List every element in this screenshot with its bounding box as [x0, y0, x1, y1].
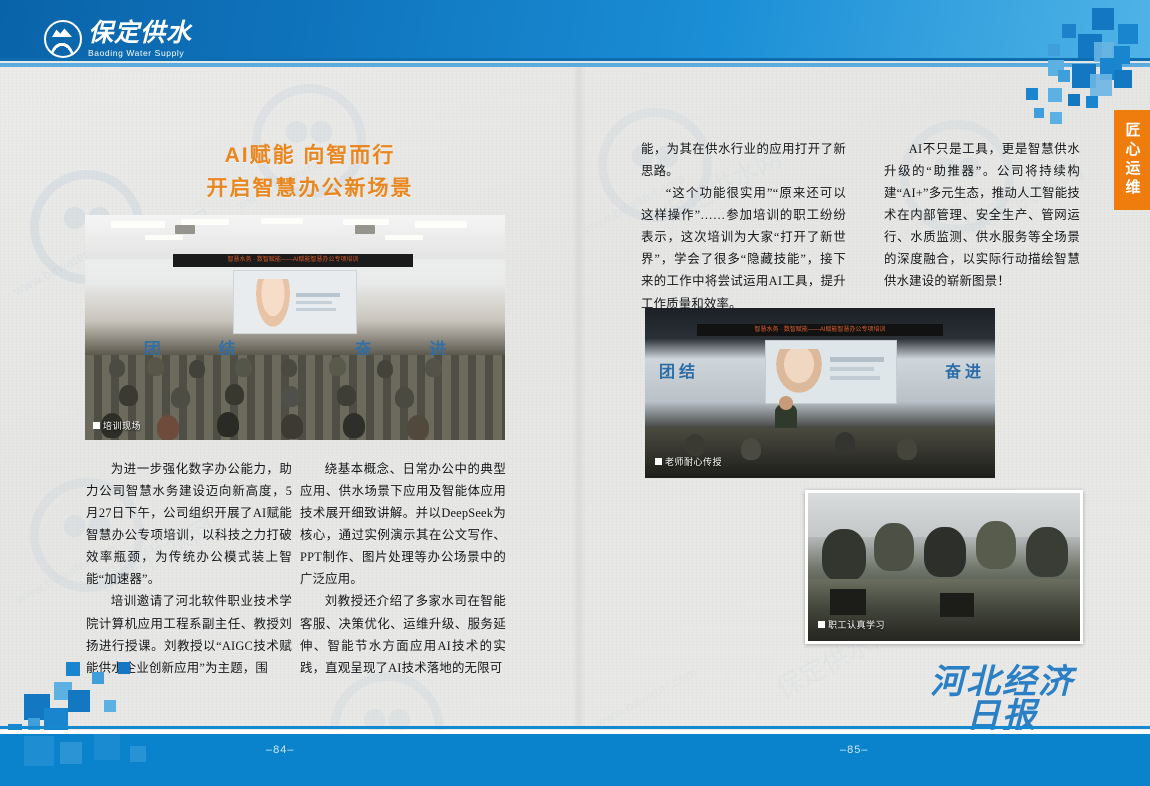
paragraph: 能，为其在供水行业的应用打开了新思路。 — [641, 138, 846, 182]
magazine-spread: www.bdwater.com 保定供水网 www.bdwater.com ww… — [0, 0, 1150, 786]
body-column-1: 为进一步强化数字办公能力，助力公司智慧水务建设迈向新高度，5月27日下午，公司组… — [86, 458, 292, 679]
slide-figure — [256, 279, 290, 327]
photo-lecturer: 智慧水务 · 数智赋能——AI赋能智慧办公专项培训 团 结 奋 进 老师耐心传授 — [645, 308, 995, 478]
photo-caption: 培训现场 — [93, 419, 141, 432]
water-drop-wave-icon — [44, 20, 82, 58]
slogan-char: 团 结 — [659, 358, 695, 382]
section-tab-label: 匠心运维 — [1122, 122, 1143, 198]
photo-banner-text: 智慧水务 · 数智赋能——AI赋能智慧办公专项培训 — [697, 324, 943, 336]
paragraph: 为进一步强化数字办公能力，助力公司智慧水务建设迈向新高度，5月27日下午，公司组… — [86, 458, 292, 590]
caption-marker-icon — [93, 422, 100, 429]
photo-caption: 老师耐心传授 — [655, 455, 722, 468]
photo-banner-text: 智慧水务 · 数智赋能——AI赋能智慧办公专项培训 — [173, 254, 413, 267]
section-tab-craftsmanship[interactable]: 匠心运维 — [1114, 110, 1150, 210]
watermark-url: www.bdwater.com — [593, 665, 699, 731]
photo-caption-text: 老师耐心传授 — [665, 455, 722, 468]
projection-screen — [233, 270, 357, 334]
paragraph: AI不只是工具，更是智慧供水升级的“助推器”。公司将持续构建“AI+”多元生态，… — [884, 138, 1080, 293]
paragraph: 绕基本概念、日常办公中的典型应用、供水场景下应用及智能体应用技术展开细致讲解。并… — [300, 458, 506, 590]
brand-name-cn: 保定供水 — [88, 21, 192, 46]
footer-divider-2 — [0, 726, 1150, 729]
header-divider-2 — [0, 63, 1150, 67]
page-number-right: –85– — [840, 744, 868, 756]
brand-name-en: Baoding Water Supply — [88, 49, 192, 58]
slogan-char: 奋 进 — [945, 358, 981, 382]
photo-caption: 职工认真学习 — [818, 618, 885, 631]
photo-attendees: 职工认真学习 — [805, 490, 1083, 644]
paragraph: 培训邀请了河北软件职业技术学院计算机应用工程系副主任、教授刘扬进行授课。刘教授以… — [86, 590, 292, 678]
paragraph: 刘教授还介绍了多家水司在智能客服、决策优化、运维升级、服务延伸、智能节水方面应用… — [300, 590, 506, 678]
caption-marker-icon — [818, 621, 825, 628]
body-column-2: 绕基本概念、日常办公中的典型应用、供水场景下应用及智能体应用技术展开细致讲解。并… — [300, 458, 506, 679]
page-spine-shadow — [572, 67, 586, 727]
ceiling — [85, 215, 505, 259]
audience-seating — [85, 355, 505, 440]
footer-bar — [0, 734, 1150, 786]
body-column-4: AI不只是工具，更是智慧供水升级的“助推器”。公司将持续构建“AI+”多元生态，… — [884, 138, 1080, 293]
headline-line-2: 开启智慧办公新场景 — [110, 173, 510, 206]
headline-line-1: AI赋能 向智而行 — [110, 140, 510, 173]
caption-marker-icon — [655, 458, 662, 465]
paragraph: “这个功能很实用”“原来还可以这样操作”……参加培训的职工纷纷表示，这次培训为大… — [641, 182, 846, 314]
brand-logo: 保定供水 Baoding Water Supply — [44, 20, 192, 58]
photo-caption-text: 职工认真学习 — [828, 618, 885, 631]
wall-slogan: 团 结 奋 进 — [645, 358, 995, 382]
page-number-left: –84– — [266, 744, 294, 756]
body-column-3: 能，为其在供水行业的应用打开了新思路。 “这个功能很实用”“原来还可以这样操作”… — [641, 138, 846, 315]
newspaper-name-cn: 河北经济日报 — [918, 666, 1086, 734]
header-divider — [0, 58, 1150, 61]
lecturer-head — [779, 396, 793, 410]
article-headline: AI赋能 向智而行 开启智慧办公新场景 — [110, 140, 510, 205]
photo-caption-text: 培训现场 — [103, 419, 141, 432]
photo-training-site: 智慧水务 · 数智赋能——AI赋能智慧办公专项培训 团 结 . 奋 进 — [85, 215, 505, 440]
